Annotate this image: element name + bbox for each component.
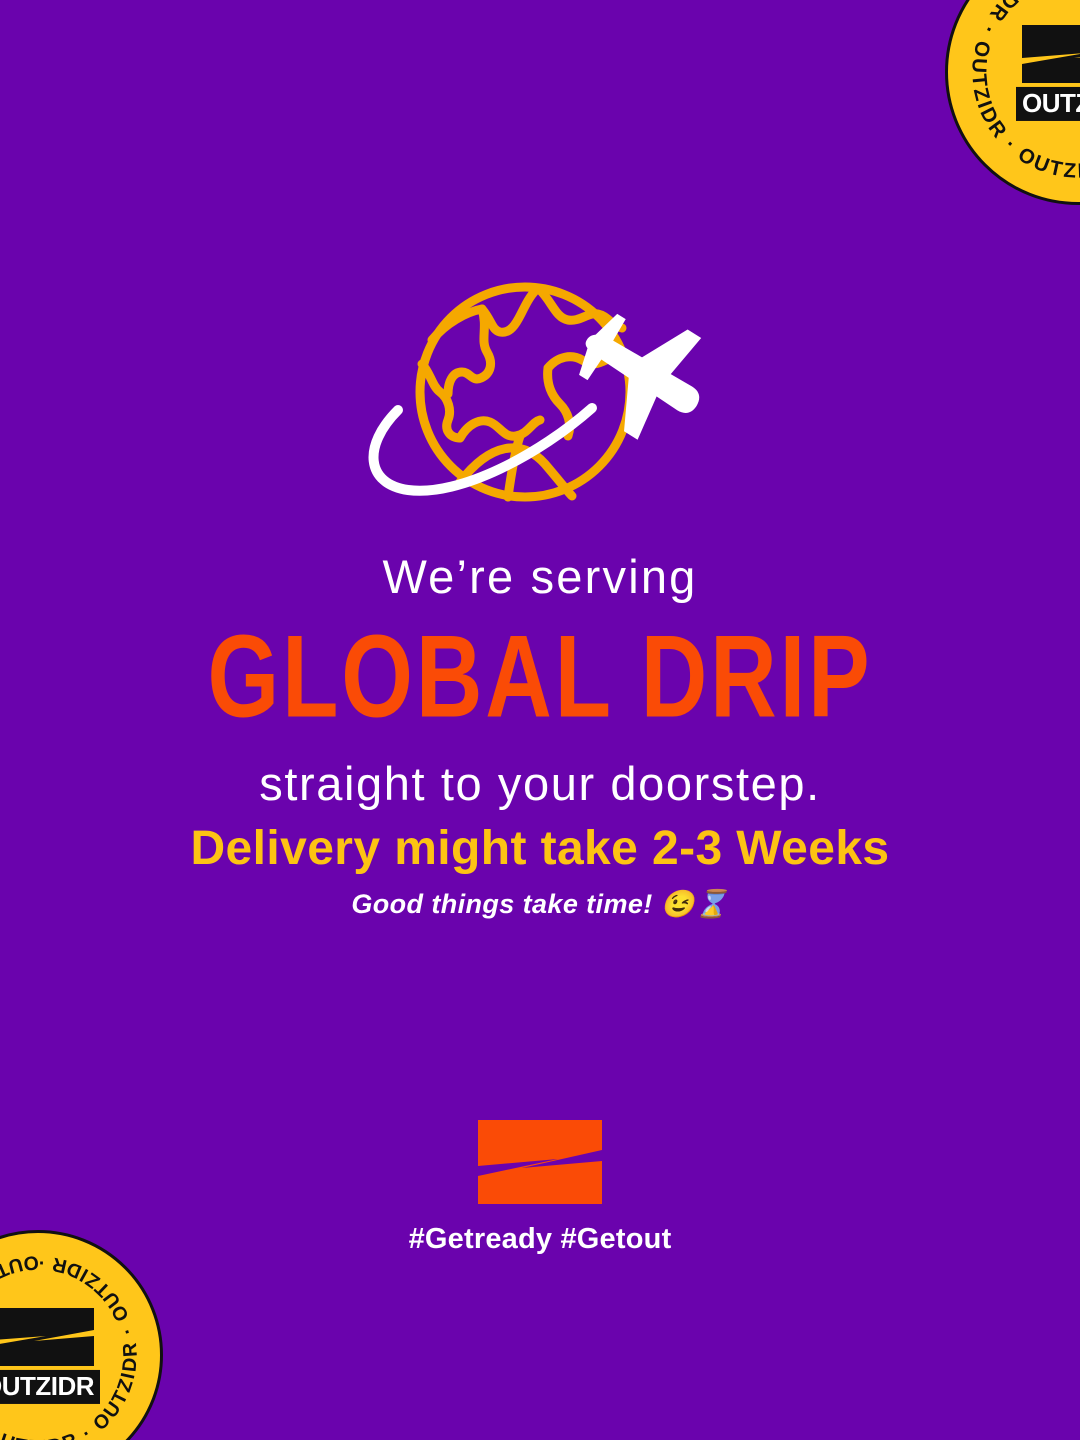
promo-poster: OUTZIDR · OUTZIDR · OUTZIDR · OUTZIDR · … [0,0,1080,1440]
badge-center-word: OUTZIDR [0,1370,100,1404]
footer-block: #Getready #Getout [0,1120,1080,1256]
z-logo-icon [478,1120,602,1204]
delivery-estimate: Delivery might take 2-3 Weeks [0,822,1080,876]
brand-badge-top-right: OUTZIDR · OUTZIDR · OUTZIDR · OUTZIDR · … [945,0,1080,205]
headline-line-2: GLOBAL DRIP [22,613,1059,742]
brand-badge-bottom-left: OUTZIDR · OUTZIDR · OUTZIDR · OUTZIDR · … [0,1230,163,1440]
headline-block: We’re serving GLOBAL DRIP straight to yo… [0,552,1080,808]
footer-tagline: #Getready #Getout [409,1223,672,1256]
delivery-notice-block: Delivery might take 2-3 Weeks Good thing… [0,822,1080,920]
globe-airplane-icon [340,268,740,520]
z-logo-icon [1016,23,1080,85]
headline-line-1: We’re serving [0,552,1080,601]
badge-center-word: OUTZIDR [1016,87,1080,121]
delivery-subnote: Good things take time! 😉⌛ [0,888,1080,920]
headline-line-3: straight to your doorstep. [0,759,1080,808]
z-logo-icon [0,1306,100,1368]
badge-center-lockup: OUTZIDR [0,1306,111,1404]
badge-center-lockup: OUTZIDR [1005,23,1080,121]
